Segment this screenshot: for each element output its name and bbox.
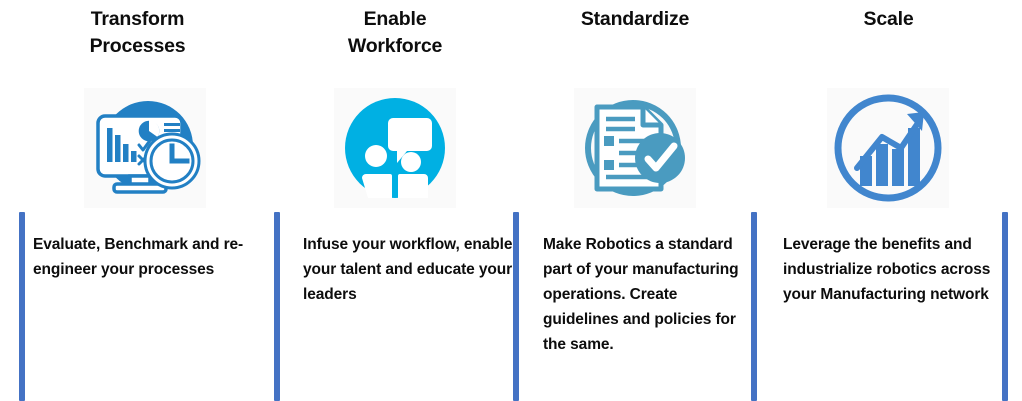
column-heading: Scale (755, 6, 1022, 33)
people-speech-bubble-icon (334, 88, 456, 208)
divider-bar (513, 212, 519, 401)
divider-bar (751, 212, 757, 401)
divider-bar (274, 212, 280, 401)
divider-bar (19, 212, 25, 401)
column-heading: Enable Workforce (275, 6, 515, 60)
growth-chart-arrow-icon (827, 88, 949, 208)
document-checkmark-icon (574, 88, 696, 208)
column-body-text: Evaluate, Benchmark and re-engineer your… (33, 232, 271, 282)
column-transform-processes: Transform Processes (0, 0, 275, 401)
column-body-text: Leverage the benefits and industrialize … (783, 232, 1005, 307)
column-body-text: Make Robotics a standard part of your ma… (543, 232, 755, 357)
heading-line-2: Processes (0, 33, 275, 60)
heading-line-1: Standardize (515, 6, 755, 33)
divider-bar (1002, 212, 1008, 401)
column-heading: Transform Processes (0, 6, 275, 60)
column-enable-workforce: Enable Workforce Infuse your workflow, e… (275, 0, 515, 401)
heading-line-1: Enable (275, 6, 515, 33)
column-body-text: Infuse your workflow, enable your talent… (303, 232, 513, 307)
column-scale: Scale Leverage the benefits and industri… (755, 0, 1022, 401)
infographic-root: Transform Processes (0, 0, 1022, 401)
heading-line-2: Workforce (275, 33, 515, 60)
heading-line-1: Scale (755, 6, 1022, 33)
dashboard-clock-icon (84, 88, 206, 208)
column-heading: Standardize (515, 6, 755, 33)
column-standardize: Standardize (515, 0, 755, 401)
heading-line-1: Transform (0, 6, 275, 33)
